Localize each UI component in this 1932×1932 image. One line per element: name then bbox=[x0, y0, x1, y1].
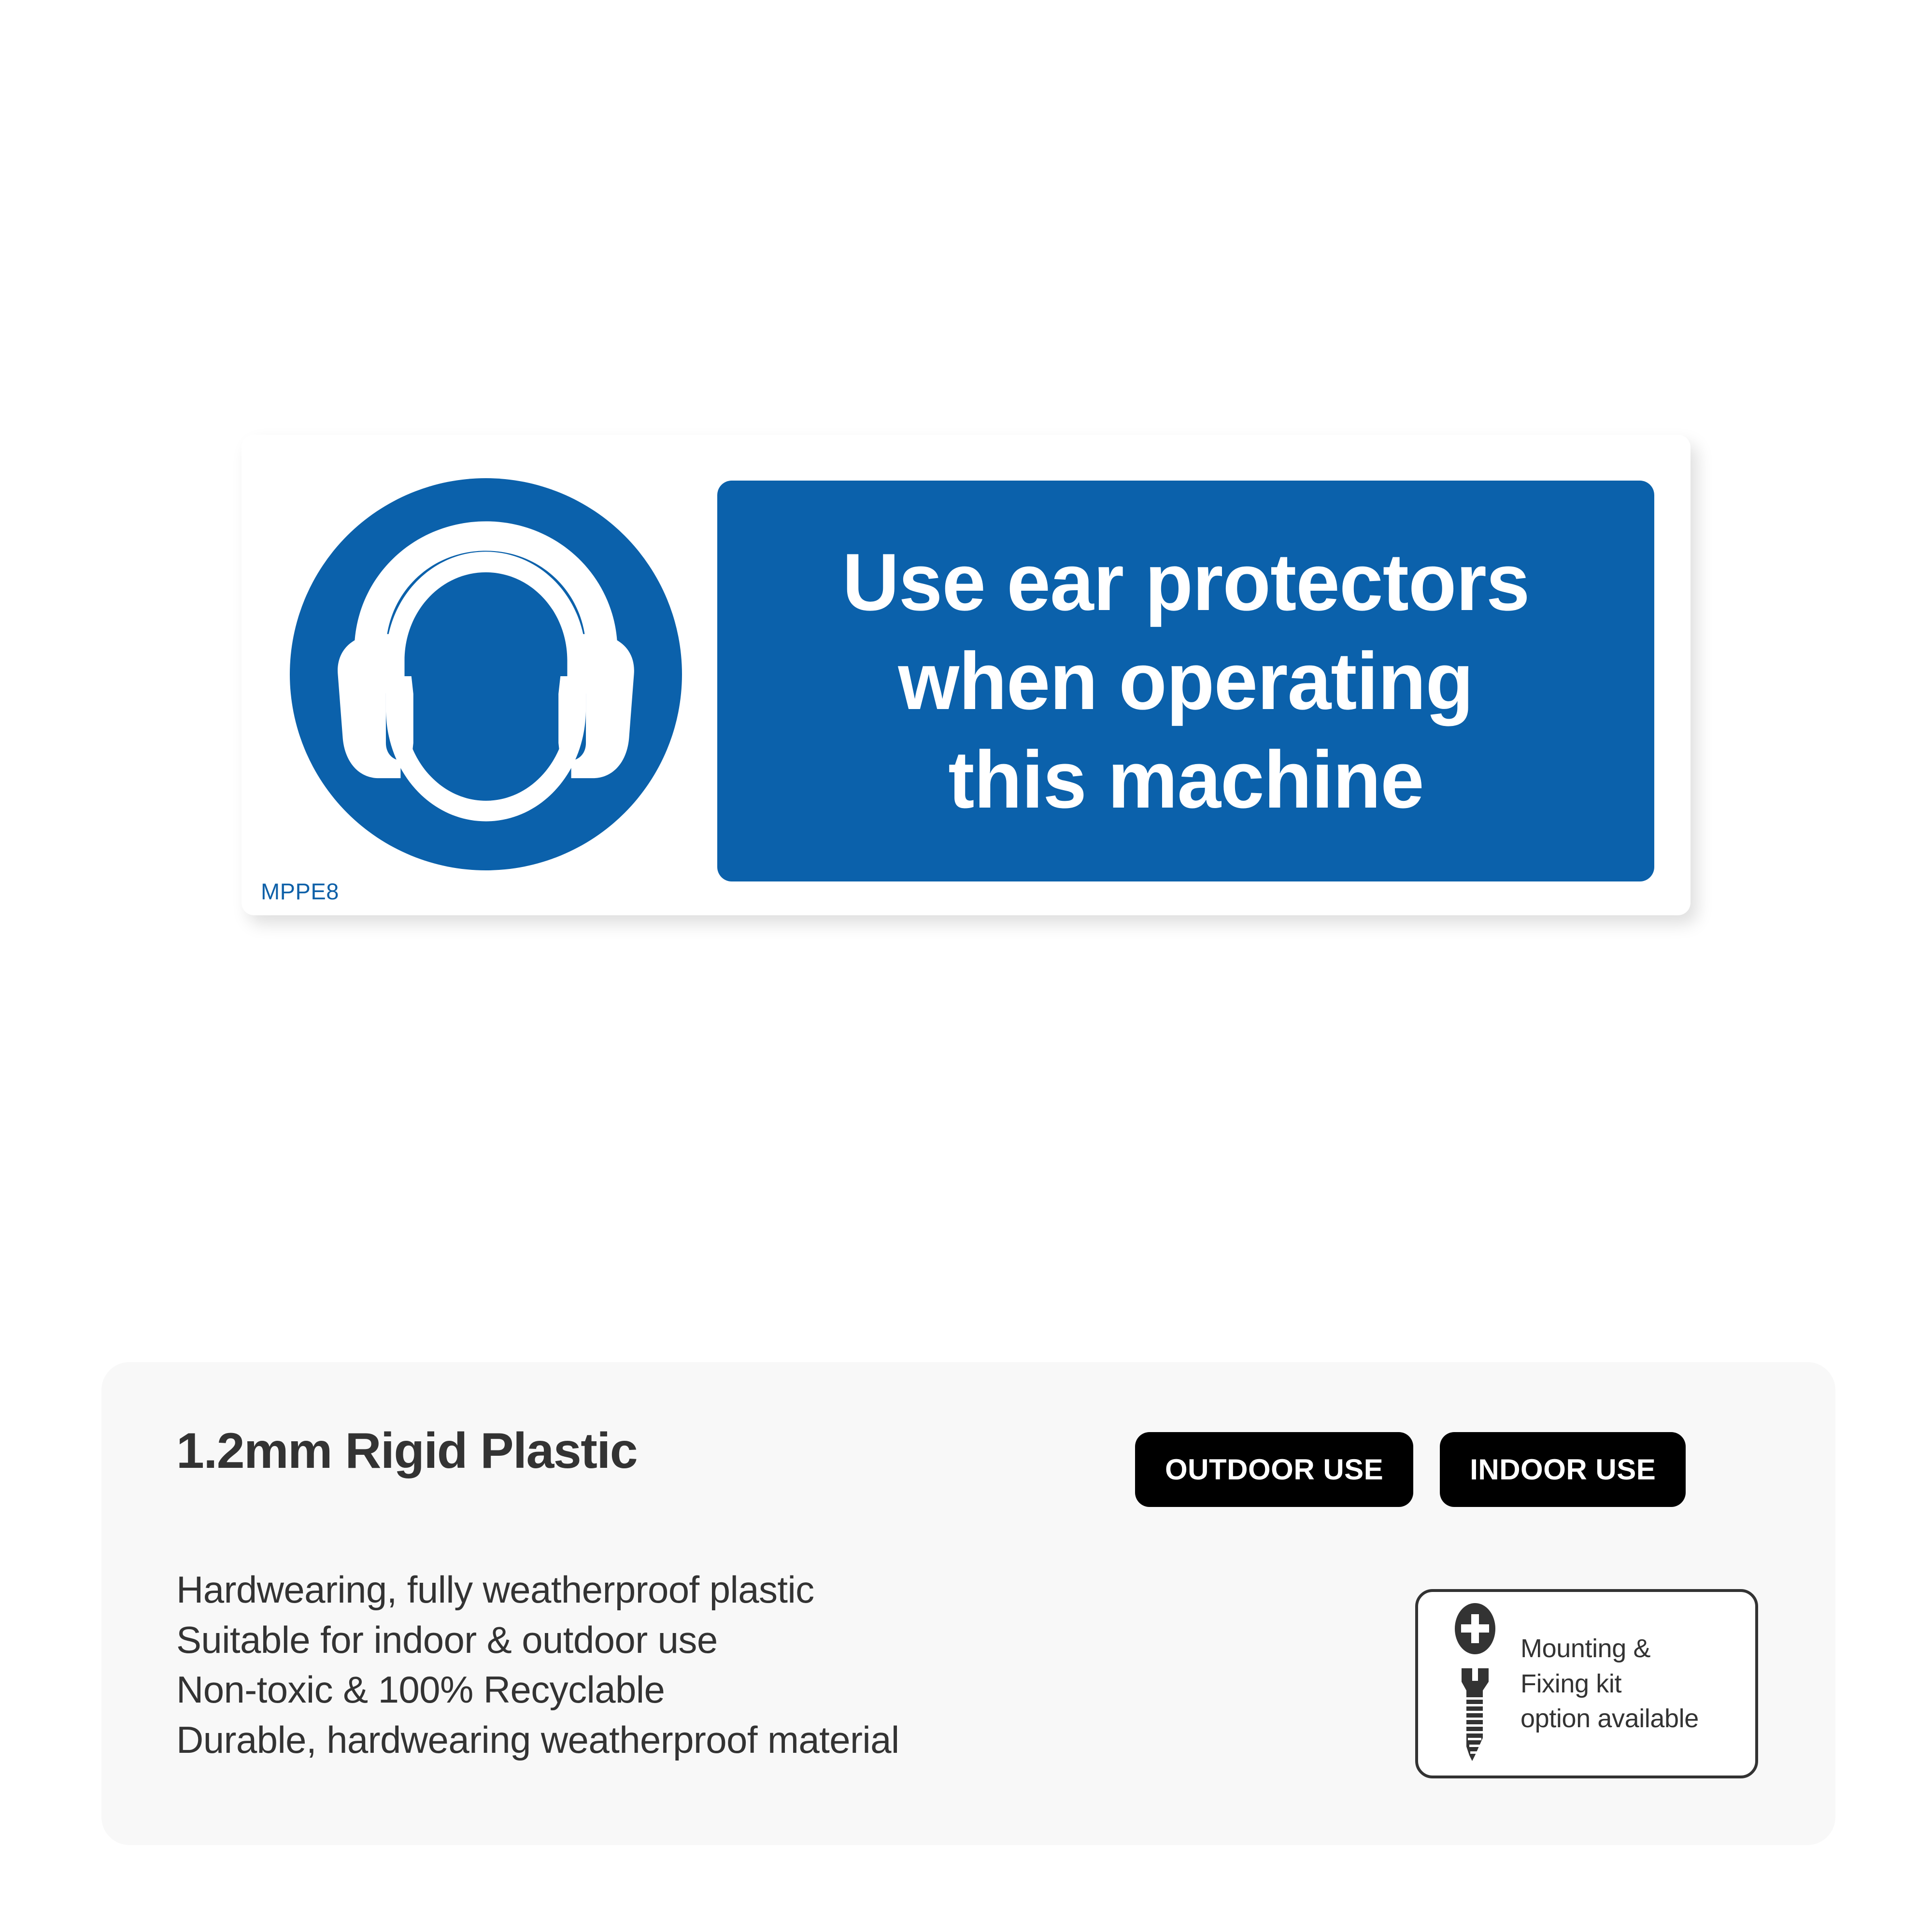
use-badge-group: OUTDOOR USE INDOOR USE bbox=[1135, 1432, 1686, 1507]
mounting-kit-icons bbox=[1436, 1602, 1514, 1766]
mounting-kit-callout: Mounting & Fixing kit option available bbox=[1415, 1589, 1758, 1778]
sign-message-panel: Use ear protectors when operating this m… bbox=[717, 481, 1654, 881]
status-badge-outdoor-use: OUTDOOR USE bbox=[1135, 1432, 1413, 1507]
feature-list: Hardwearing, fully weatherproof plastic … bbox=[176, 1565, 1142, 1765]
feature-item: Hardwearing, fully weatherproof plastic bbox=[176, 1565, 1142, 1615]
sign-reference-code: MPPE8 bbox=[261, 878, 339, 905]
ear-protection-mandatory-icon bbox=[290, 478, 682, 870]
sign-message-line-3: this machine bbox=[948, 730, 1424, 829]
mounting-kit-line-3: option available bbox=[1520, 1701, 1699, 1736]
feature-item: Suitable for indoor & outdoor use bbox=[176, 1615, 1142, 1665]
mounting-kit-line-2: Fixing kit bbox=[1520, 1666, 1699, 1701]
mounting-kit-text: Mounting & Fixing kit option available bbox=[1520, 1631, 1699, 1736]
status-badge-indoor-use: INDOOR USE bbox=[1440, 1432, 1686, 1507]
feature-item: Non-toxic & 100% Recyclable bbox=[176, 1665, 1142, 1715]
sign-message-line-2: when operating bbox=[898, 632, 1474, 731]
product-spec-panel: 1.2mm Rigid Plastic Hardwearing, fully w… bbox=[101, 1362, 1835, 1845]
sign-message-line-1: Use ear protectors bbox=[842, 533, 1530, 632]
sign-product-card: Use ear protectors when operating this m… bbox=[241, 435, 1690, 915]
feature-item: Durable, hardwearing weatherproof materi… bbox=[176, 1715, 1142, 1765]
material-title: 1.2mm Rigid Plastic bbox=[176, 1422, 637, 1480]
mounting-kit-line-1: Mounting & bbox=[1520, 1631, 1699, 1666]
screw-head-icon bbox=[1453, 1602, 1497, 1656]
screw-icon bbox=[1453, 1665, 1497, 1766]
